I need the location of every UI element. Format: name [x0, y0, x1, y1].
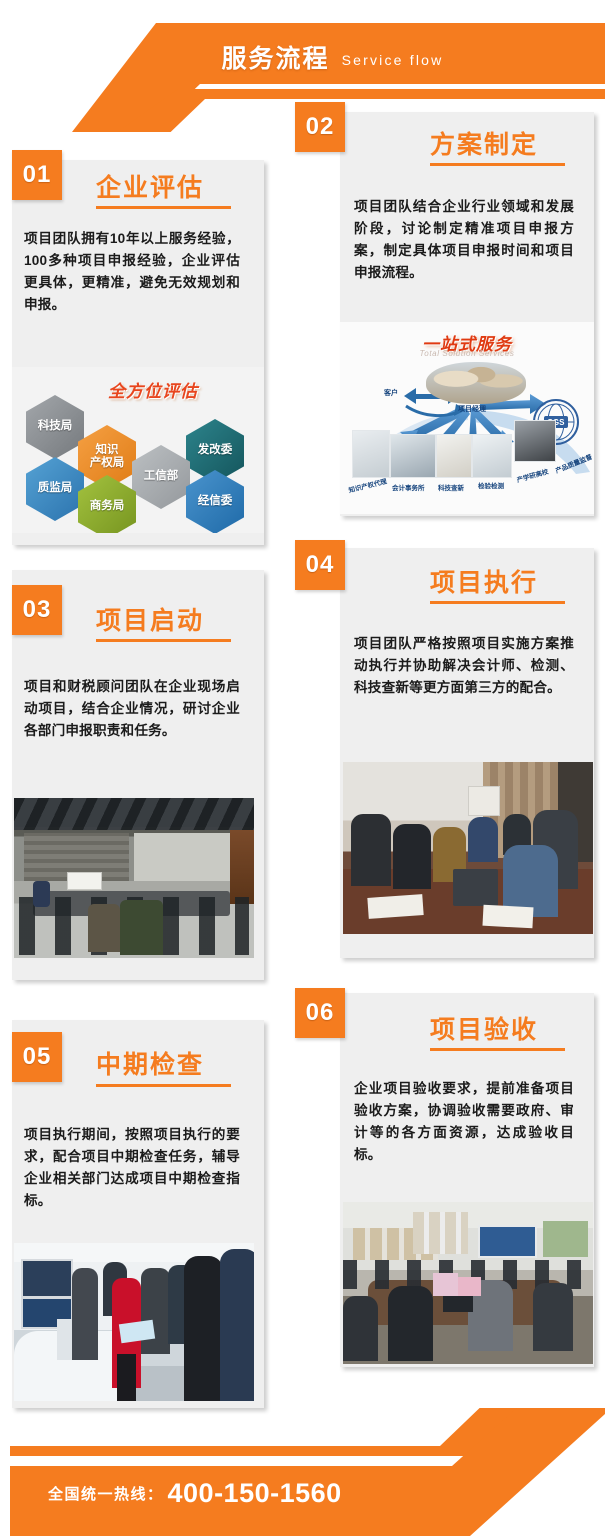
hex-node-keji: 科技局	[26, 395, 84, 459]
card-04-title-rule	[430, 601, 565, 604]
hex-node-zhishi-label: 知识产权局	[90, 444, 125, 470]
card-01-number: 01	[23, 161, 52, 189]
card-03-number: 03	[23, 596, 52, 624]
oss-subtitle: Total Solution Services	[340, 349, 594, 358]
oss-thumb-lab	[472, 434, 512, 478]
card-06-number: 06	[306, 999, 335, 1027]
hex-node-shangwu-label: 商务局	[90, 500, 125, 513]
card-05-title-rule	[96, 1084, 231, 1087]
card-06-title-rule	[430, 1048, 565, 1051]
photo-showroom-walkthrough	[14, 1243, 254, 1401]
hex-node-fagai-label: 发改委	[198, 444, 233, 457]
card-01-title: 企业评估	[96, 168, 204, 204]
card-05-title: 中期检查	[96, 1045, 204, 1081]
card-01-title-rule	[96, 206, 231, 209]
card-03-number-badge: 03	[12, 585, 62, 635]
card-02-number-badge: 02	[295, 102, 345, 152]
oss-node-manager: 项目经理	[458, 404, 486, 414]
card-04-title: 项目执行	[430, 563, 538, 599]
hex-node-keji-label: 科技局	[38, 420, 73, 433]
hexagon-assessment-diagram: 全方位评估 科技局 知识产权局 发改委 质监局 工信部 经信委 商务局	[12, 367, 264, 533]
oss-label-inspection: 检验检测	[478, 480, 504, 490]
card-02-title-rule	[430, 163, 565, 166]
card-02-body: 项目团队结合企业行业领域和发展阶段，讨论制定精准项目申报方案，制定具体项目申报时…	[354, 196, 574, 284]
hex-node-jingxin: 经信委	[186, 470, 244, 533]
hex-node-zhijian-label: 质监局	[38, 482, 73, 495]
oss-label-accounting: 会计事务所	[392, 482, 425, 492]
card-03-title-rule	[96, 639, 231, 642]
card-05-body: 项目执行期间，按照项目执行的要求，配合项目中期检查任务，辅导企业相关部门达成项目…	[24, 1124, 240, 1212]
service-flow-infographic: 服务流程 Service flow 01 企业评估 项目团队拥有10年以上服务经…	[0, 0, 605, 1538]
one-stop-service-diagram: SGS 一站式服务 Total Solution Services 客户 项目经…	[340, 322, 594, 514]
card-01-body: 项目团队拥有10年以上服务经验，100多种项目申报经验，企业评估更具体，更精准，…	[24, 228, 240, 316]
oss-label-tech-search: 科技查新	[438, 482, 464, 492]
card-06-number-badge: 06	[295, 988, 345, 1038]
oss-thumb-books	[352, 430, 390, 478]
card-04-number: 04	[306, 551, 335, 579]
hex-node-gongxin: 工信部	[132, 445, 190, 509]
photo-meeting-room-kickoff	[14, 798, 254, 958]
oss-meeting-photo	[426, 362, 526, 404]
card-02-number: 02	[306, 113, 335, 141]
card-06-title: 项目验收	[430, 1010, 538, 1046]
photo-conference-acceptance	[343, 1202, 593, 1364]
card-02-title: 方案制定	[430, 125, 538, 161]
hex-node-gongxin-label: 工信部	[144, 470, 179, 483]
card-05-number-badge: 05	[12, 1032, 62, 1082]
hex-node-zhijian: 质监局	[26, 457, 84, 521]
card-05-number: 05	[23, 1043, 52, 1071]
oss-thumb-documents	[436, 434, 472, 478]
card-01-number-badge: 01	[12, 150, 62, 200]
card-03-body: 项目和财税顾问团队在企业现场启动项目，结合企业情况，研讨企业各部门申报职责和任务…	[24, 676, 240, 742]
oss-node-customer: 客户	[384, 388, 398, 398]
footer-banner	[0, 1408, 605, 1538]
oss-thumb-university	[514, 420, 556, 462]
footer-banner-shape	[0, 1408, 605, 1538]
card-04-body: 项目团队严格按照项目实施方案推动执行并协助解决会计师、检测、科技查新等更方面第三…	[354, 633, 574, 699]
card-03-title: 项目启动	[96, 601, 204, 637]
card-04-number-badge: 04	[295, 540, 345, 590]
card-06-body: 企业项目验收要求，提前准备项目验收方案，协调验收需要政府、审计等的各方面资源，达…	[354, 1078, 574, 1166]
hex-diagram-title: 全方位评估	[108, 377, 198, 402]
hex-node-shangwu: 商务局	[78, 475, 136, 533]
hex-node-jingxin-label: 经信委	[198, 495, 233, 508]
oss-thumb-office	[390, 434, 436, 478]
photo-team-working-laptops	[343, 762, 593, 934]
